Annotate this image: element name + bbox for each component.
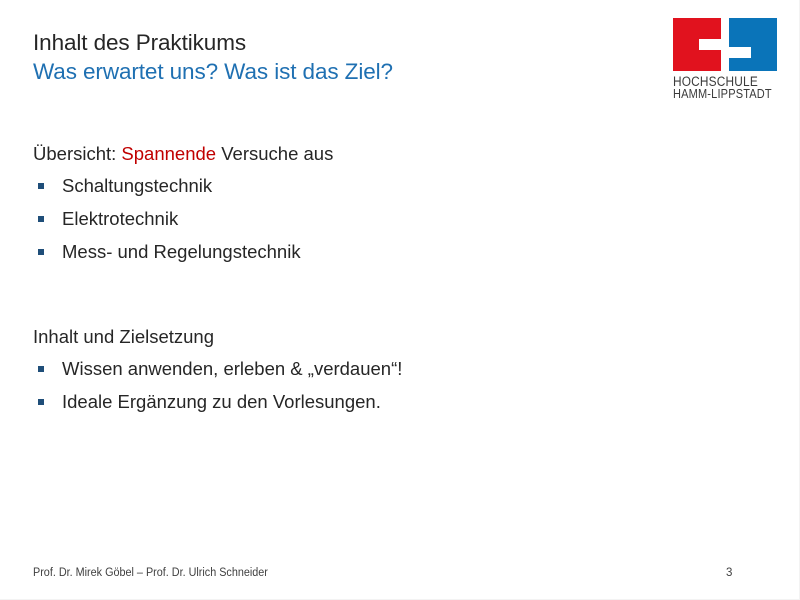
content-section-goals: Inhalt und Zielsetzung Wissen anwenden, … — [33, 322, 673, 417]
square-bullet-icon — [38, 399, 44, 405]
presentation-slide: Inhalt des Praktikums Was erwartet uns? … — [0, 0, 800, 600]
logo-blue-square-icon — [729, 18, 777, 71]
list-item: Wissen anwenden, erleben & „verdauen“! — [33, 354, 673, 384]
content-section-overview: Übersicht: Spannende Versuche aus Schalt… — [33, 139, 673, 267]
logo-wordmark-line2: HAMM-LIPPSTADT — [673, 88, 765, 101]
list-item-label: Ideale Ergänzung zu den Vorlesungen. — [62, 391, 381, 412]
lead-prefix: Inhalt und Zielsetzung — [33, 326, 214, 347]
list-item: Elektrotechnik — [33, 204, 673, 234]
slide-body: Übersicht: Spannende Versuche aus Schalt… — [33, 139, 673, 420]
logo-wordmark: HOCHSCHULE HAMM-LIPPSTADT — [673, 75, 777, 101]
list-item-label: Schaltungstechnik — [62, 175, 212, 196]
square-bullet-icon — [38, 216, 44, 222]
square-bullet-icon — [38, 249, 44, 255]
bullet-list-goals: Wissen anwenden, erleben & „verdauen“! I… — [33, 354, 673, 417]
section-spacer — [33, 270, 673, 322]
square-bullet-icon — [38, 366, 44, 372]
square-bullet-icon — [38, 183, 44, 189]
list-item-label: Elektrotechnik — [62, 208, 178, 229]
footer-page-number: 3 — [726, 566, 732, 580]
lead-accent: Spannende — [121, 143, 216, 164]
logo-blue-notch-icon — [729, 47, 751, 58]
list-item-label: Mess- und Regelungstechnik — [62, 241, 301, 262]
list-item: Ideale Ergänzung zu den Vorlesungen. — [33, 387, 673, 417]
page-subtitle: Was erwartet uns? Was ist das Ziel? — [33, 57, 633, 87]
section-lead-line: Übersicht: Spannende Versuche aus — [33, 139, 673, 169]
logo-red-notch-icon — [699, 39, 721, 50]
list-item-label: Wissen anwenden, erleben & „verdauen“! — [62, 358, 402, 379]
footer-author: Prof. Dr. Mirek Göbel – Prof. Dr. Ulrich… — [33, 566, 268, 580]
bullet-list-overview: Schaltungstechnik Elektrotechnik Mess- u… — [33, 171, 673, 267]
list-item: Schaltungstechnik — [33, 171, 673, 201]
lead-suffix: Versuche aus — [216, 143, 333, 164]
page-title: Inhalt des Praktikums — [33, 28, 633, 57]
lead-prefix: Übersicht: — [33, 143, 121, 164]
list-item: Mess- und Regelungstechnik — [33, 237, 673, 267]
title-block: Inhalt des Praktikums Was erwartet uns? … — [33, 28, 633, 87]
section-lead-line: Inhalt und Zielsetzung — [33, 322, 673, 352]
logo-cross-mark-icon — [673, 18, 777, 71]
institution-logo: HOCHSCHULE HAMM-LIPPSTADT — [673, 18, 777, 102]
